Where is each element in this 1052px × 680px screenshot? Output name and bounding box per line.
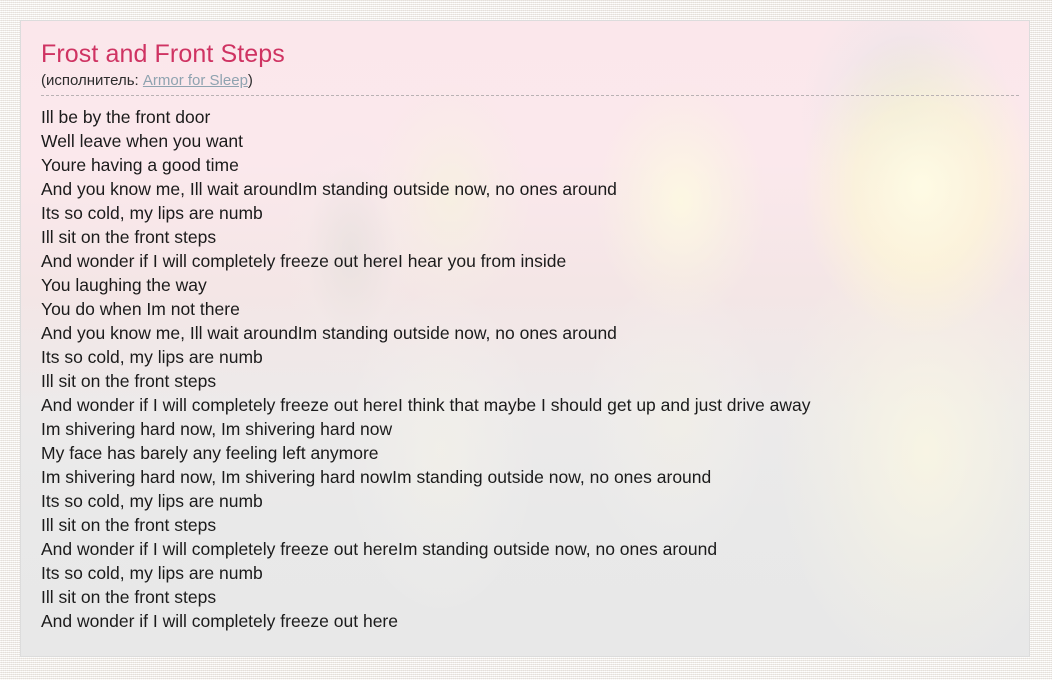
lyric-line: Well leave when you want	[41, 129, 1029, 153]
lyric-line: And wonder if I will completely freeze o…	[41, 537, 1029, 561]
lyric-line: And wonder if I will completely freeze o…	[41, 249, 1029, 273]
lyric-line: And wonder if I will completely freeze o…	[41, 609, 1029, 633]
artist-prefix-label: (исполнитель:	[41, 72, 143, 89]
artist-suffix-label: )	[248, 72, 253, 89]
lyric-line: Its so cold, my lips are numb	[41, 561, 1029, 585]
lyric-line: Its so cold, my lips are numb	[41, 201, 1029, 225]
lyric-line: Ill sit on the front steps	[41, 513, 1029, 537]
page-frame: Frost and Front Steps (исполнитель: Armo…	[0, 0, 1052, 680]
lyric-line: And you know me, Ill wait aroundIm stand…	[41, 177, 1029, 201]
lyric-line: Youre having a good time	[41, 153, 1029, 177]
lyrics-text-block: Ill be by the front doorWell leave when …	[41, 105, 1029, 633]
lyric-line: You laughing the way	[41, 273, 1029, 297]
lyric-line: Ill sit on the front steps	[41, 225, 1029, 249]
lyric-line: Im shivering hard now, Im shivering hard…	[41, 465, 1029, 489]
lyric-line: You do when Im not there	[41, 297, 1029, 321]
lyric-line: Its so cold, my lips are numb	[41, 489, 1029, 513]
song-content-panel: Frost and Front Steps (исполнитель: Armo…	[20, 20, 1030, 657]
lyric-line: And you know me, Ill wait aroundIm stand…	[41, 321, 1029, 345]
lyric-line: And wonder if I will completely freeze o…	[41, 393, 1029, 417]
lyric-line: Its so cold, my lips are numb	[41, 345, 1029, 369]
lyric-line: Ill be by the front door	[41, 105, 1029, 129]
panel-inner-content: Frost and Front Steps (исполнитель: Armo…	[21, 21, 1029, 633]
artist-link[interactable]: Armor for Sleep	[143, 72, 248, 89]
song-header: Frost and Front Steps (исполнитель: Armo…	[41, 39, 1019, 96]
lyric-line: Ill sit on the front steps	[41, 585, 1029, 609]
page-title: Frost and Front Steps	[41, 39, 1001, 69]
artist-line: (исполнитель: Armor for Sleep)	[41, 71, 1001, 91]
lyric-line: My face has barely any feeling left anym…	[41, 441, 1029, 465]
lyric-line: Ill sit on the front steps	[41, 369, 1029, 393]
lyric-line: Im shivering hard now, Im shivering hard…	[41, 417, 1029, 441]
